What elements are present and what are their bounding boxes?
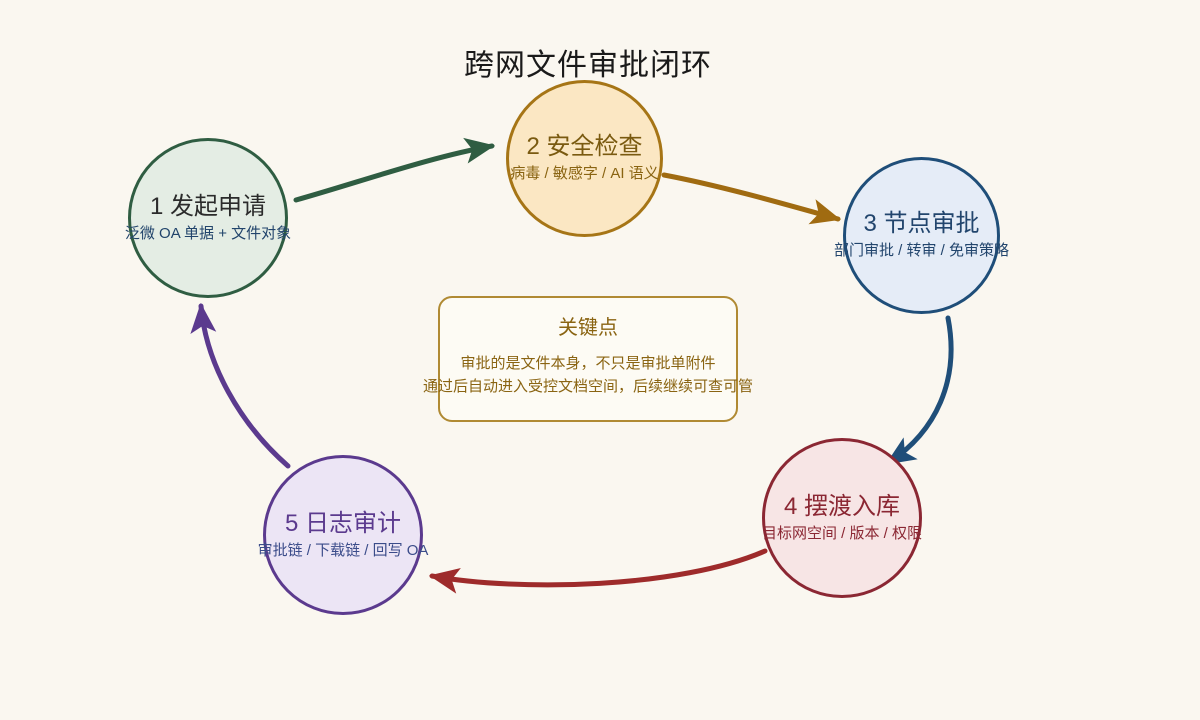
node-title: 4 摆渡入库	[784, 494, 900, 520]
node-security-check[interactable]: 2 安全检查 病毒 / 敏感字 / AI 语义	[506, 80, 663, 237]
edge-5-to-1	[201, 306, 288, 466]
node-subtitle: 审批链 / 下载链 / 回写 OA	[258, 543, 429, 560]
key-points-title: 关键点	[558, 311, 618, 340]
node-log-audit[interactable]: 5 日志审计 审批链 / 下载链 / 回写 OA	[263, 455, 423, 615]
node-title: 1 发起申请	[150, 194, 266, 220]
edge-4-to-5	[432, 551, 765, 585]
node-node-approval[interactable]: 3 节点审批 部门审批 / 转审 / 免审策略	[843, 157, 1000, 314]
node-ferry-storage[interactable]: 4 摆渡入库 目标网空间 / 版本 / 权限	[762, 438, 922, 598]
key-points-line-2: 通过后自动进入受控文档空间，后续继续可查可管	[423, 375, 753, 398]
edge-3-to-4	[888, 318, 951, 463]
node-initiate-request[interactable]: 1 发起申请 泛微 OA 单据 + 文件对象	[128, 138, 288, 298]
key-points-callout: 关键点 审批的是文件本身，不只是审批单附件 通过后自动进入受控文档空间，后续继续…	[438, 296, 738, 422]
edge-2-to-3	[664, 175, 838, 219]
node-subtitle: 病毒 / 敏感字 / AI 语义	[510, 166, 658, 183]
edge-1-to-2	[296, 146, 492, 200]
node-title: 5 日志审计	[285, 511, 401, 537]
node-subtitle: 目标网空间 / 版本 / 权限	[762, 526, 922, 543]
node-subtitle: 部门审批 / 转审 / 免审策略	[834, 243, 1009, 260]
key-points-line-1: 审批的是文件本身，不只是审批单附件	[460, 352, 715, 375]
node-title: 3 节点审批	[863, 211, 979, 237]
node-title: 2 安全检查	[526, 134, 642, 160]
page-title: 跨网文件审批闭环	[0, 40, 1188, 84]
diagram-canvas: 跨网文件审批闭环 1 发起申请 泛微 OA 单据 +	[0, 0, 1200, 720]
node-subtitle: 泛微 OA 单据 + 文件对象	[125, 226, 291, 243]
